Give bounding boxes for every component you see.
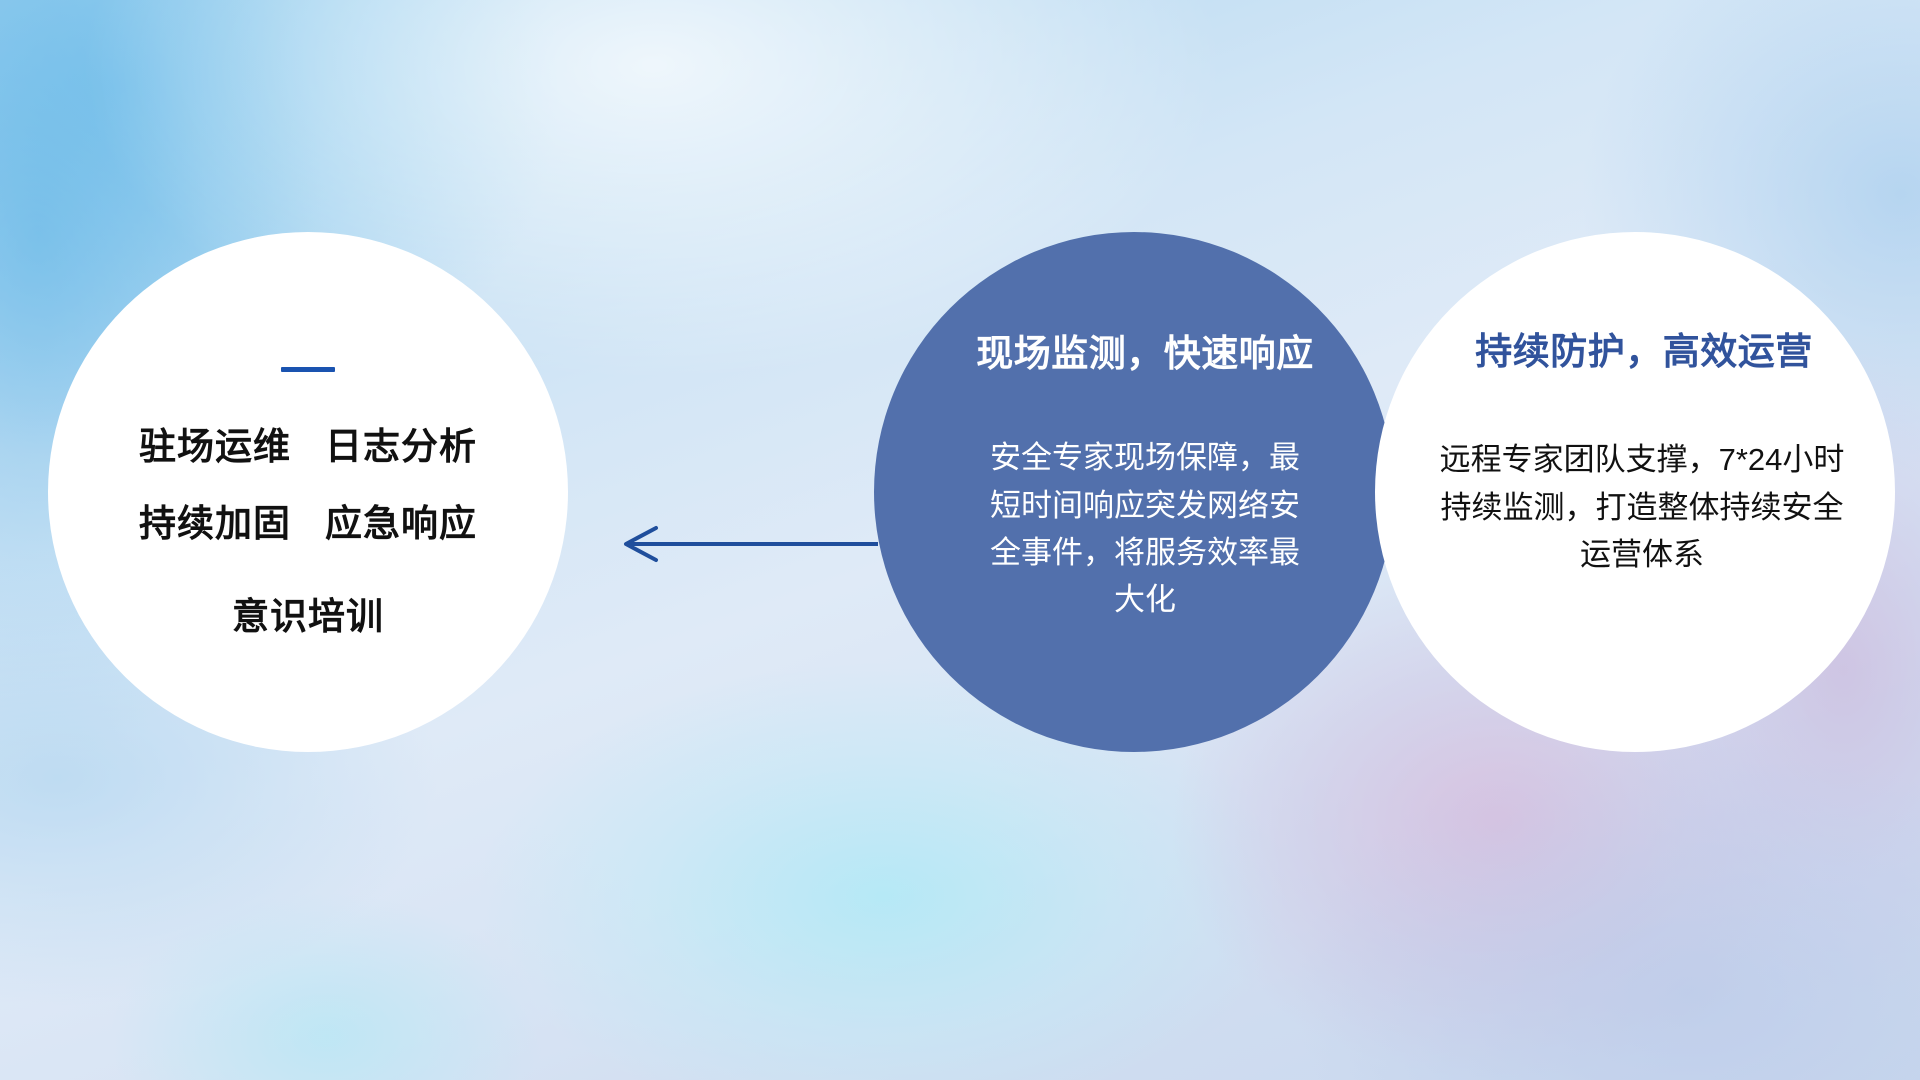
right-circle-content: 持续防护，高效运营 远程专家团队支撑，7*24小时持续监测，打造整体持续安全运营…	[1375, 232, 1895, 752]
capability-row: 持续加固 应急响应	[139, 505, 477, 542]
left-circle-divider	[281, 367, 335, 372]
capability-tag: 应急响应	[325, 505, 477, 542]
capability-row: 驻场运维 日志分析	[139, 428, 477, 465]
middle-circle-content: 现场监测，快速响应 安全专家现场保障，最短时间响应突发网络安全事件，将服务效率最…	[874, 232, 1394, 752]
middle-circle-title: 现场监测，快速响应	[976, 332, 1314, 376]
slide-canvas: 驻场运维 日志分析 持续加固 应急响应 意识培训 现场监测，快速响应 安全专家现…	[0, 0, 1920, 1080]
capability-circle-middle[interactable]: 现场监测，快速响应 安全专家现场保障，最短时间响应突发网络安全事件，将服务效率最…	[874, 232, 1394, 752]
capability-circle-left[interactable]: 驻场运维 日志分析 持续加固 应急响应 意识培训	[48, 232, 568, 752]
left-circle-content: 驻场运维 日志分析 持续加固 应急响应 意识培训	[48, 232, 568, 752]
flow-arrow-icon	[610, 520, 880, 568]
capability-tag: 持续加固	[139, 505, 291, 542]
capability-tag: 意识培训	[232, 598, 384, 635]
capability-circle-right[interactable]: 持续防护，高效运营 远程专家团队支撑，7*24小时持续监测，打造整体持续安全运营…	[1375, 232, 1895, 752]
right-circle-title: 持续防护，高效运营	[1475, 330, 1813, 374]
capability-tag: 日志分析	[325, 428, 477, 465]
capability-row: 意识培训	[232, 598, 384, 635]
middle-circle-body: 安全专家现场保障，最短时间响应突发网络安全事件，将服务效率最大化	[980, 434, 1310, 622]
capability-tag: 驻场运维	[139, 428, 291, 465]
right-circle-body: 远程专家团队支撑，7*24小时持续监测，打造整体持续安全运营体系	[1437, 436, 1847, 577]
